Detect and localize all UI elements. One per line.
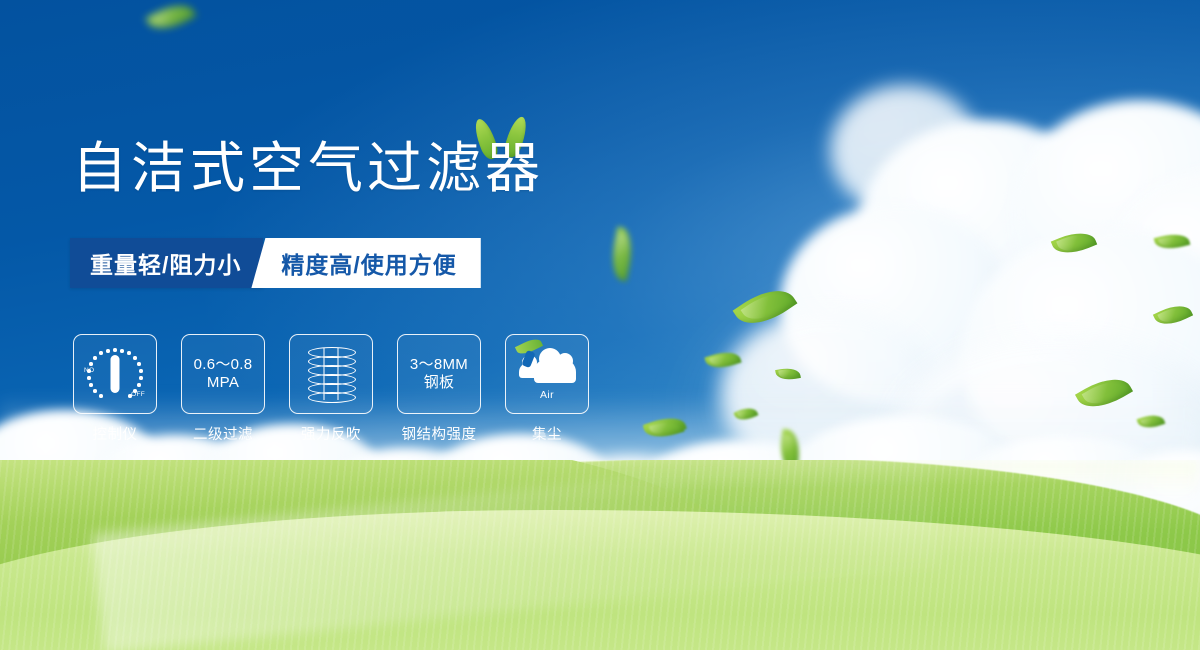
feature-label: 强力反吹 xyxy=(301,423,361,444)
feature-icon-box: 0.6～0.8 MPA xyxy=(181,334,265,414)
feature-icon-box: Air xyxy=(505,334,589,414)
feature-list: NO OFF 控制仪 0.6～0.8 MPA 二级过滤 xyxy=(70,334,592,444)
subtitle-right: 精度高/使用方便 xyxy=(251,238,480,288)
feature-label: 控制仪 xyxy=(93,423,138,444)
subtitle-bar: 重量轻/阻力小 精度高/使用方便 xyxy=(70,238,481,288)
steel-thickness-text: 3～8MM xyxy=(410,356,468,374)
cloud-air-icon xyxy=(518,347,576,387)
air-text: Air xyxy=(540,389,554,401)
steel-plate-text: 钢板 xyxy=(424,374,455,392)
subtitle-left: 重量轻/阻力小 xyxy=(70,238,263,288)
feature-item-control-gauge[interactable]: NO OFF 控制仪 xyxy=(70,334,160,444)
feature-icon-box: NO OFF xyxy=(73,334,157,414)
gauge-label-no: NO xyxy=(84,367,94,375)
feature-item-dust-collection[interactable]: Air 集尘 xyxy=(502,334,592,444)
feature-icon-box xyxy=(289,334,373,414)
feature-label: 集尘 xyxy=(532,423,562,444)
feature-label: 钢结构强度 xyxy=(402,423,477,444)
coil-airflow-icon xyxy=(308,346,354,402)
pressure-unit-text: MPA xyxy=(207,374,239,392)
feature-icon-box: 3～8MM 钢板 xyxy=(397,334,481,414)
product-hero-banner: 自洁式空气过滤器 重量轻/阻力小 精度高/使用方便 xyxy=(0,0,1200,650)
gauge-icon: NO OFF xyxy=(84,346,146,402)
gauge-label-off: OFF xyxy=(131,391,145,399)
grass-field xyxy=(0,460,1200,650)
feature-item-steel-strength[interactable]: 3～8MM 钢板 钢结构强度 xyxy=(394,334,484,444)
feature-item-two-stage-filter[interactable]: 0.6～0.8 MPA 二级过滤 xyxy=(178,334,268,444)
pressure-range-text: 0.6～0.8 xyxy=(194,356,253,374)
feature-label: 二级过滤 xyxy=(193,423,253,444)
feature-item-reverse-blow[interactable]: 强力反吹 xyxy=(286,334,376,444)
page-title: 自洁式空气过滤器 xyxy=(72,141,544,196)
